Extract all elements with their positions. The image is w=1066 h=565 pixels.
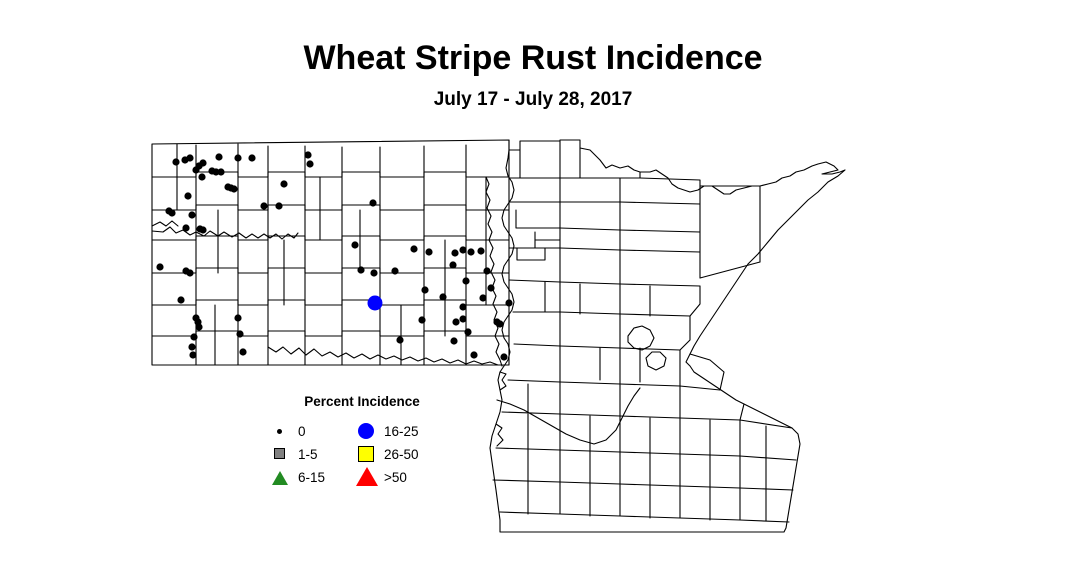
data-point-0 xyxy=(177,296,184,303)
data-point-0 xyxy=(477,247,484,254)
legend-label-26-50: 26-50 xyxy=(384,447,419,462)
legend-label-1-5: 1-5 xyxy=(298,447,318,462)
data-point-0 xyxy=(487,284,494,291)
data-point-0 xyxy=(370,269,377,276)
data-point-0 xyxy=(439,293,446,300)
data-point-0 xyxy=(410,245,417,252)
data-point-0 xyxy=(467,248,474,255)
data-point-0 xyxy=(188,343,195,350)
data-point-0 xyxy=(280,180,287,187)
data-point-0 xyxy=(172,158,179,165)
data-point-0 xyxy=(236,330,243,337)
data-point-0 xyxy=(306,160,313,167)
gray-square-icon xyxy=(270,444,296,466)
data-point-0 xyxy=(459,246,466,253)
data-point-0 xyxy=(182,224,189,231)
data-point-0 xyxy=(391,267,398,274)
data-point-0 xyxy=(351,241,358,248)
data-point-0 xyxy=(357,266,364,273)
data-point-16-25 xyxy=(368,296,383,311)
data-point-0 xyxy=(449,261,456,268)
data-point-0 xyxy=(186,154,193,161)
data-point-0 xyxy=(234,314,241,321)
map-page: Wheat Stripe Rust Incidence July 17 - Ju… xyxy=(0,0,1066,565)
data-point-0 xyxy=(425,248,432,255)
green-triangle-icon xyxy=(270,467,296,489)
data-point-0 xyxy=(396,336,403,343)
data-point-0 xyxy=(304,151,311,158)
data-point-0 xyxy=(184,192,191,199)
data-point-layer xyxy=(156,151,512,360)
data-point-0 xyxy=(479,294,486,301)
data-point-0 xyxy=(239,348,246,355)
data-point-0 xyxy=(190,333,197,340)
data-point-0 xyxy=(186,269,193,276)
data-point-0 xyxy=(459,315,466,322)
data-point-0 xyxy=(248,154,255,161)
legend-label-0: 0 xyxy=(298,424,306,439)
data-point-0 xyxy=(505,299,512,306)
data-point-0 xyxy=(421,286,428,293)
data-point-0 xyxy=(470,351,477,358)
data-point-0 xyxy=(275,202,282,209)
data-point-0 xyxy=(418,316,425,323)
data-point-0 xyxy=(450,337,457,344)
blue-circle-icon xyxy=(356,421,382,443)
data-point-0 xyxy=(168,209,175,216)
red-triangle-icon xyxy=(356,467,382,489)
data-point-0 xyxy=(234,154,241,161)
legend-label-6-15: 6-15 xyxy=(298,470,325,485)
data-point-0 xyxy=(464,328,471,335)
data-point-0 xyxy=(199,226,206,233)
data-point-0 xyxy=(217,168,224,175)
data-point-0 xyxy=(500,353,507,360)
legend: Percent Incidence 0 1-5 6-15 16-25 xyxy=(262,394,462,494)
data-point-0 xyxy=(156,263,163,270)
data-point-0 xyxy=(215,153,222,160)
legend-label-16-25: 16-25 xyxy=(384,424,419,439)
data-point-0 xyxy=(496,320,503,327)
incidence-map xyxy=(0,0,1066,565)
legend-label-over-50: >50 xyxy=(384,470,407,485)
data-point-0 xyxy=(451,249,458,256)
data-point-0 xyxy=(452,318,459,325)
yellow-square-icon xyxy=(356,444,382,466)
data-point-0 xyxy=(230,185,237,192)
data-point-0 xyxy=(369,199,376,206)
county-boundaries xyxy=(152,140,845,532)
small-black-dot-icon xyxy=(270,421,296,443)
data-point-0 xyxy=(188,211,195,218)
data-point-0 xyxy=(483,267,490,274)
data-point-0 xyxy=(462,277,469,284)
data-point-0 xyxy=(195,323,202,330)
data-point-0 xyxy=(198,173,205,180)
data-point-0 xyxy=(260,202,267,209)
data-point-0 xyxy=(189,351,196,358)
data-point-0 xyxy=(459,303,466,310)
legend-title: Percent Incidence xyxy=(262,394,462,409)
data-point-0 xyxy=(199,159,206,166)
